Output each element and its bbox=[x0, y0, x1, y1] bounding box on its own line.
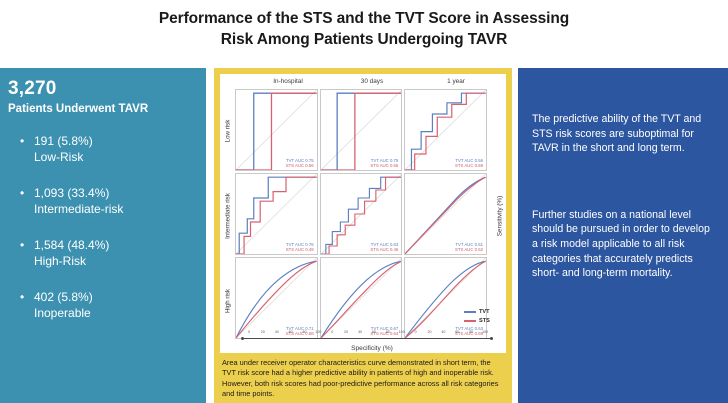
page-title-line-1: Performance of the STS and the TVT Score… bbox=[0, 8, 728, 29]
auc-label: TVT AUC 0.76 STS AUC 0.49 bbox=[286, 242, 314, 252]
column-header-row: In-hospital 30 days 1 year bbox=[246, 76, 498, 88]
list-item: • 1,093 (33.4%) Intermediate-risk bbox=[34, 185, 196, 217]
risk-count: 1,093 (33.4%) bbox=[34, 185, 196, 201]
roc-panel-intermediate-30-days: TVT AUC 0.63 STS AUC 0.46 bbox=[320, 173, 403, 255]
auc-sts: STS AUC 0.56 bbox=[370, 163, 398, 168]
auc-sts: STS AUC 0.46 bbox=[370, 247, 398, 252]
risk-label: High-Risk bbox=[34, 253, 196, 269]
x-axis-label: Specificity (%) bbox=[246, 345, 498, 352]
cohort-summary-panel: 3,270 Patients Underwent TAVR • 191 (5.8… bbox=[0, 68, 206, 403]
roc-panel-low-1-year: TVT AUC 0.56 STS AUC 0.59 bbox=[404, 89, 487, 171]
risk-count: 191 (5.8%) bbox=[34, 133, 196, 149]
figure-caption: Area under receiver operator characteris… bbox=[220, 353, 506, 400]
roc-figure: In-hospital 30 days 1 year Low risk Inte… bbox=[220, 74, 506, 353]
auc-label: TVT AUC 0.63 STS AUC 0.46 bbox=[370, 242, 398, 252]
x-axis-ticks: 020406080100 020406080100 020406080100 bbox=[242, 330, 492, 336]
risk-count: 1,584 (48.4%) bbox=[34, 237, 196, 253]
conclusion-paragraph-2: Further studies on a national level shou… bbox=[532, 208, 714, 281]
y-axis-label-text: Sensitivity (%) bbox=[497, 195, 504, 235]
auc-sts: STS AUC 0.59 bbox=[455, 163, 483, 168]
risk-label: Low-Risk bbox=[34, 149, 196, 165]
roc-panel-low-in-hospital: TVT AUC 0.75 STS AUC 0.56 bbox=[235, 89, 318, 171]
legend-swatch-tvt-icon bbox=[464, 311, 476, 313]
auc-sts: STS AUC 0.49 bbox=[286, 247, 314, 252]
x-axis-line bbox=[242, 338, 492, 339]
risk-category-list: • 191 (5.8%) Low-Risk • 1,093 (33.4%) In… bbox=[8, 133, 196, 321]
figure-card: In-hospital 30 days 1 year Low risk Inte… bbox=[214, 68, 512, 403]
column-header-1-year: 1 year bbox=[414, 76, 498, 88]
legend-label-tvt: TVT bbox=[479, 309, 490, 315]
legend-label-sts: STS bbox=[479, 318, 490, 324]
legend-swatch-sts-icon bbox=[464, 320, 476, 322]
column-header-30-days: 30 days bbox=[330, 76, 414, 88]
roc-panel-high-in-hospital: TVT AUC 0.71 STS AUC 0.58 bbox=[235, 257, 318, 339]
roc-panel-low-30-days: TVT AUC 0.75 STS AUC 0.56 bbox=[320, 89, 403, 171]
row-label-high-risk: High risk bbox=[222, 258, 234, 343]
column-header-in-hospital: In-hospital bbox=[246, 76, 330, 88]
risk-label: Intermediate-risk bbox=[34, 201, 196, 217]
list-item: • 191 (5.8%) Low-Risk bbox=[34, 133, 196, 165]
conclusion-paragraph-1: The predictive ability of the TVT and ST… bbox=[532, 112, 714, 156]
bullet-icon: • bbox=[20, 133, 24, 149]
cohort-subtitle: Patients Underwent TAVR bbox=[8, 101, 196, 117]
risk-count: 402 (5.8%) bbox=[34, 289, 196, 305]
auc-sts: STS AUC 0.56 bbox=[286, 163, 314, 168]
roc-panel-intermediate-1-year: TVT AUC 0.51 STS AUC 0.52 bbox=[404, 173, 487, 255]
risk-label: Inoperable bbox=[34, 305, 196, 321]
cohort-total-count: 3,270 bbox=[8, 78, 196, 100]
bullet-icon: • bbox=[20, 289, 24, 305]
bullet-icon: • bbox=[20, 185, 24, 201]
auc-label: TVT AUC 0.75 STS AUC 0.56 bbox=[286, 158, 314, 168]
y-axis-label: Sensitivity (%) bbox=[495, 88, 505, 343]
auc-sts: STS AUC 0.52 bbox=[455, 247, 483, 252]
row-label-text: High risk bbox=[225, 288, 232, 312]
page-title: Performance of the STS and the TVT Score… bbox=[0, 8, 728, 50]
list-item: • 402 (5.8%) Inoperable bbox=[34, 289, 196, 321]
roc-panel-intermediate-in-hospital: TVT AUC 0.76 STS AUC 0.49 bbox=[235, 173, 318, 255]
row-label-column: Low risk Intermediate risk High risk bbox=[222, 88, 234, 343]
roc-panel-high-30-days: TVT AUC 0.67 STS AUC 0.54 bbox=[320, 257, 403, 339]
list-item: • 1,584 (48.4%) High-Risk bbox=[34, 237, 196, 269]
row-label-intermediate-risk: Intermediate risk bbox=[222, 173, 234, 258]
bullet-icon: • bbox=[20, 237, 24, 253]
row-label-text: Intermediate risk bbox=[225, 193, 232, 239]
conclusions-panel: The predictive ability of the TVT and ST… bbox=[518, 68, 728, 403]
auc-label: TVT AUC 0.51 STS AUC 0.52 bbox=[455, 242, 483, 252]
row-label-low-risk: Low risk bbox=[222, 88, 234, 173]
roc-panel-grid: TVT AUC 0.75 STS AUC 0.56 TVT AUC 0.75 S… bbox=[234, 88, 488, 340]
auc-label: TVT AUC 0.75 STS AUC 0.56 bbox=[370, 158, 398, 168]
page-title-line-2: Risk Among Patients Undergoing TAVR bbox=[0, 29, 728, 50]
auc-label: TVT AUC 0.56 STS AUC 0.59 bbox=[455, 158, 483, 168]
row-label-text: Low risk bbox=[225, 119, 232, 142]
